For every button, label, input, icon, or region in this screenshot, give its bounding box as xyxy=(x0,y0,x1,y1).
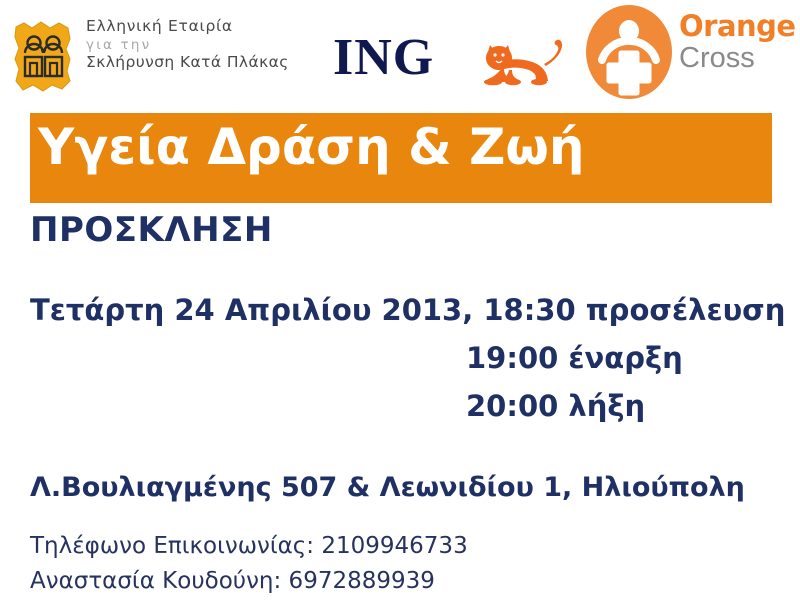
poster-root: Ελληνική Εταιρία για την Σκλήρυνση Κατά … xyxy=(0,0,800,600)
contact-phone: Τηλέφωνο Επικοινωνίας: 2109946733 xyxy=(30,535,468,558)
society-logo-line-1: Ελληνική Εταιρία xyxy=(86,19,312,35)
orange-cross-word-orange: Orange xyxy=(679,11,799,41)
invitation-heading: ΠΡΟΣΚΛΗΣΗ xyxy=(30,213,273,247)
society-logo-line-2: για την xyxy=(86,39,312,53)
orange-cross-person-icon xyxy=(583,3,675,101)
society-logo: Ελληνική Εταιρία για την Σκλήρυνση Κατά … xyxy=(10,16,310,100)
event-end-time: 20:00 λήξη xyxy=(466,392,645,421)
society-logo-line-3: Σκλήρυνση Κατά Πλάκας xyxy=(86,55,312,71)
two-figures-shield-mark-icon xyxy=(10,19,76,95)
event-address: Λ.Βουλιαγμένης 507 & Λεωνιδίου 1, Ηλιούπ… xyxy=(30,474,745,501)
logo-strip: Ελληνική Εταιρία για την Σκλήρυνση Κατά … xyxy=(0,0,800,112)
orange-cross-logo: Orange Cross xyxy=(583,3,798,101)
ing-logo: ING xyxy=(333,30,563,92)
society-logo-text: Ελληνική Εταιρία για την Σκλήρυνση Κατά … xyxy=(86,16,312,71)
event-date-line: Τετάρτη 24 Απριλίου 2013, 18:30 προσέλευ… xyxy=(30,296,785,325)
banner-title: Υγεία Δράση & Ζωή xyxy=(38,122,584,172)
title-banner: Υγεία Δράση & Ζωή xyxy=(30,113,772,203)
event-start-time: 19:00 έναρξη xyxy=(466,344,683,373)
ing-lion-icon xyxy=(473,36,569,88)
ing-wordmark: ING xyxy=(333,32,434,84)
orange-cross-wordmark: Orange Cross xyxy=(679,11,799,75)
orange-cross-word-cross: Cross xyxy=(679,43,799,75)
contact-person: Αναστασία Κουδούνη: 6972889939 xyxy=(30,570,435,593)
